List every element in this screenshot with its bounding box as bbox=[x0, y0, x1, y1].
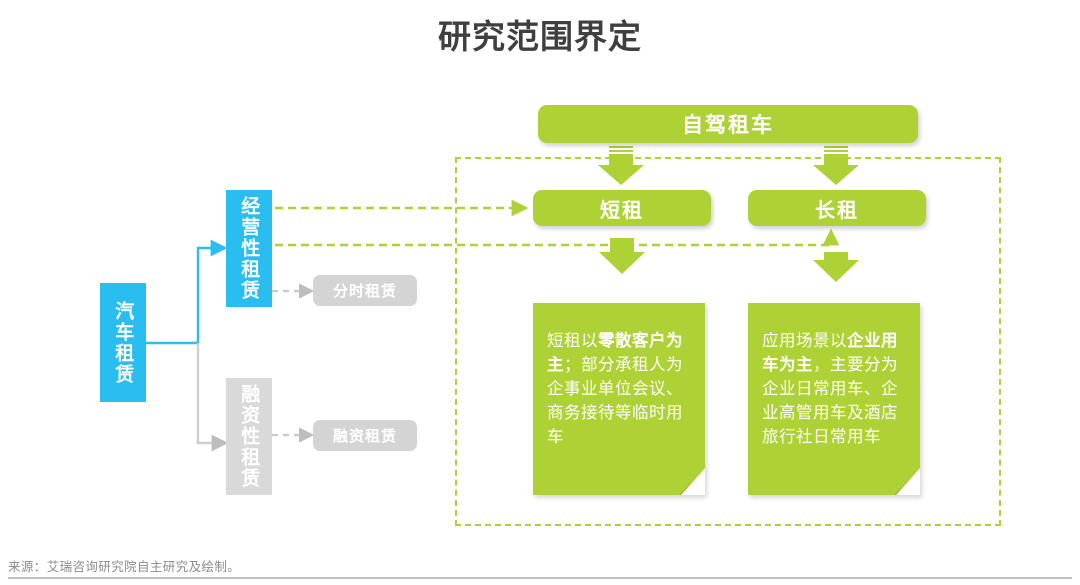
scope-top-box-self-drive-rental[interactable]: 自驾租车 bbox=[538, 105, 918, 143]
source-caption: 来源：艾瑞咨询研究院自主研究及绘制。 bbox=[8, 556, 240, 575]
category-box-label: 长租 bbox=[815, 194, 859, 223]
branch-box-label: 经营性租赁 bbox=[238, 196, 260, 301]
page-title: 研究范围界定 bbox=[0, 10, 1080, 58]
leaf-pill-label: 分时租赁 bbox=[333, 280, 397, 301]
root-box-car-rental[interactable]: 汽车租赁 bbox=[100, 283, 146, 402]
footer-divider bbox=[8, 577, 1072, 579]
root-box-label: 汽车租赁 bbox=[112, 301, 134, 385]
slide-canvas: 研究范围界定 bbox=[0, 0, 1080, 585]
branch-box-label: 融资性租赁 bbox=[238, 384, 260, 489]
note-card-long-term: 应用场景以企业用车为主，主要分为企业日常用车、企业高管用车及酒店旅行社日常用车 bbox=[748, 303, 920, 495]
leaf-pill-financial-lease[interactable]: 融资租赁 bbox=[313, 420, 417, 451]
note-tail-text: ；部分承租人为企事业单位会议、商务接待等临时用车 bbox=[547, 355, 683, 446]
branch-box-financial-lease[interactable]: 融资性租赁 bbox=[226, 378, 272, 495]
leaf-pill-label: 融资租赁 bbox=[333, 425, 397, 446]
category-box-short-term[interactable]: 短租 bbox=[533, 190, 711, 226]
note-lead-text: 短租以 bbox=[547, 331, 598, 350]
note-lead-text: 应用场景以 bbox=[762, 331, 847, 350]
leaf-pill-timeshare-rental[interactable]: 分时租赁 bbox=[313, 275, 417, 306]
category-box-long-term[interactable]: 长租 bbox=[748, 190, 926, 226]
note-card-short-term: 短租以零散客户为主；部分承租人为企事业单位会议、商务接待等临时用车 bbox=[533, 303, 705, 495]
category-box-label: 短租 bbox=[600, 194, 644, 223]
scope-top-box-label: 自驾租车 bbox=[682, 109, 774, 139]
branch-box-operating-lease[interactable]: 经营性租赁 bbox=[226, 190, 272, 307]
